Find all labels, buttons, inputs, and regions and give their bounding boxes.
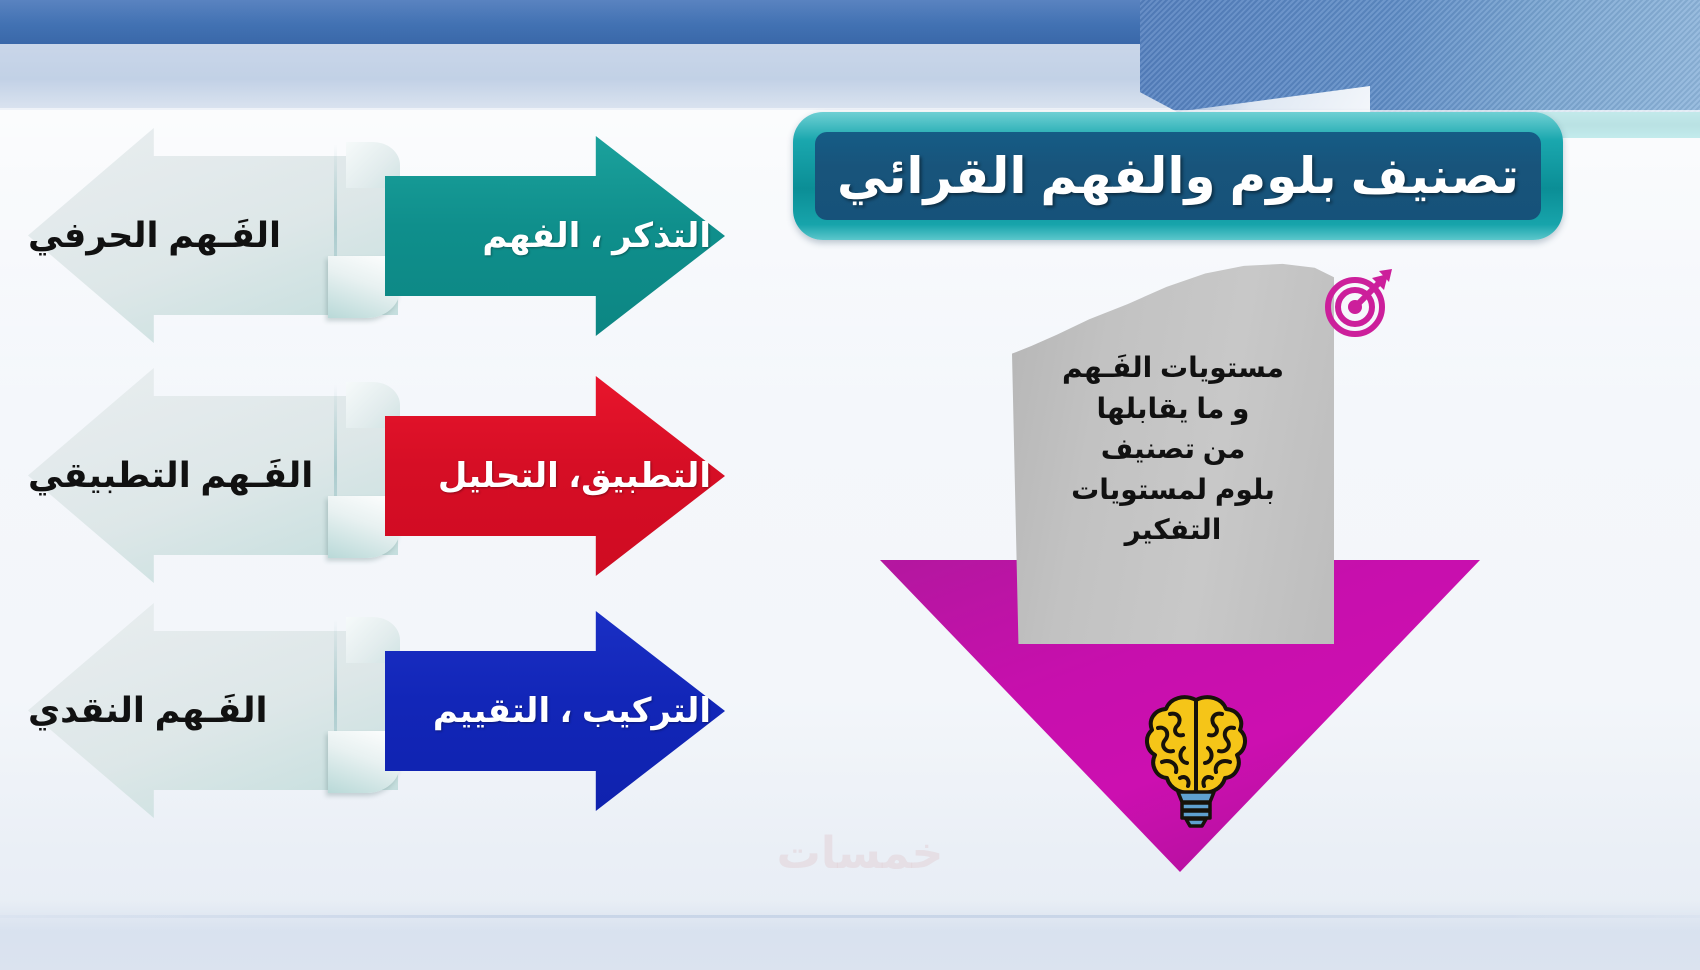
title-banner: تصنيف بلوم والفهم القرائي <box>793 112 1563 240</box>
bloom-arrow-2[interactable]: التطبيق، التحليل <box>385 376 725 576</box>
page-title: تصنيف بلوم والفهم القرائي <box>837 147 1519 205</box>
brain-lightbulb-icon <box>1140 690 1252 830</box>
comprehension-arrow-2[interactable]: الفَـهم التطبيقي <box>28 368 398 583</box>
bloom-arrow-3[interactable]: التركيب ، التقييم <box>385 611 725 811</box>
bloom-label-1: التذكر ، الفهم <box>391 216 725 256</box>
slide-canvas: تصنيف بلوم والفهم القرائي الفَـهم الحرفي… <box>0 0 1700 970</box>
background-bottom-band <box>0 900 1700 970</box>
taxonomy-row-2: الفَـهم التطبيقي التطبيق، التحليل <box>0 368 740 583</box>
plaque-line-2: و ما يقابلها <box>1018 389 1328 430</box>
plaque-line-5: التفكير <box>1018 510 1328 551</box>
comprehension-arrow-3[interactable]: الفَـهم النقدي <box>28 603 398 818</box>
comprehension-arrow-1[interactable]: الفَـهم الحرفي <box>28 128 398 343</box>
taxonomy-row-3: الفَـهم النقدي التركيب ، التقييم <box>0 603 740 818</box>
comprehension-label-2: الفَـهم التطبيقي <box>28 368 384 583</box>
bloom-arrow-1[interactable]: التذكر ، الفهم <box>385 136 725 336</box>
watermark: خمسات <box>760 828 960 879</box>
plaque-line-4: بلوم لمستويات <box>1018 470 1328 511</box>
comprehension-label-1: الفَـهم الحرفي <box>28 128 384 343</box>
summary-plaque[interactable]: مستويات الفَـهم و ما يقابلها من تصنيف بل… <box>1012 262 1334 644</box>
title-banner-inner: تصنيف بلوم والفهم القرائي <box>815 132 1541 220</box>
plaque-line-1: مستويات الفَـهم <box>1018 348 1328 389</box>
summary-plaque-text: مستويات الفَـهم و ما يقابلها من تصنيف بل… <box>1018 348 1328 551</box>
bloom-label-2: التطبيق، التحليل <box>391 456 725 496</box>
plaque-line-3: من تصنيف <box>1018 429 1328 470</box>
target-icon <box>1322 266 1396 340</box>
comprehension-label-3: الفَـهم النقدي <box>28 603 384 818</box>
taxonomy-row-1: الفَـهم الحرفي التذكر ، الفهم <box>0 128 740 343</box>
bloom-label-3: التركيب ، التقييم <box>391 691 725 731</box>
